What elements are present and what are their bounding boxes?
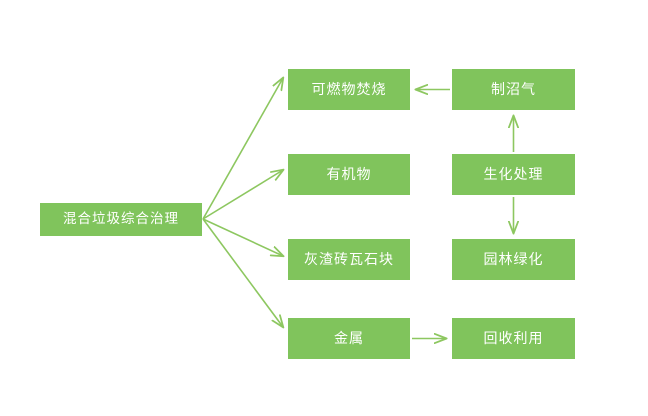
edge-root-to-metal — [203, 219, 283, 327]
node-ash[interactable]: 灰渣砖瓦石块 — [288, 239, 410, 280]
node-biochem[interactable]: 生化处理 — [452, 154, 575, 195]
node-organic-label: 有机物 — [327, 168, 372, 182]
node-recycle-label: 回收利用 — [484, 332, 544, 346]
node-metal-label: 金属 — [334, 332, 364, 346]
edge-root-to-incinerate — [203, 78, 283, 219]
node-organic[interactable]: 有机物 — [288, 154, 410, 195]
edge-root-to-ash — [203, 219, 283, 256]
node-recycle[interactable]: 回收利用 — [452, 318, 575, 359]
node-root[interactable]: 混合垃圾综合治理 — [40, 203, 202, 236]
flowchart-diagram: 混合垃圾综合治理 可燃物焚烧 有机物 灰渣砖瓦石块 金属 制沼气 生化处理 园林… — [0, 0, 648, 416]
node-ash-label: 灰渣砖瓦石块 — [304, 253, 394, 267]
node-incinerate[interactable]: 可燃物焚烧 — [288, 69, 410, 110]
node-biogas-label: 制沼气 — [491, 83, 536, 97]
node-landscape-label: 园林绿化 — [484, 253, 544, 267]
node-landscape[interactable]: 园林绿化 — [452, 239, 575, 280]
node-incinerate-label: 可燃物焚烧 — [312, 83, 387, 97]
node-metal[interactable]: 金属 — [288, 318, 410, 359]
edge-root-to-organic — [203, 170, 283, 219]
node-root-label: 混合垃圾综合治理 — [63, 213, 179, 227]
node-biogas[interactable]: 制沼气 — [452, 69, 575, 110]
node-biochem-label: 生化处理 — [484, 168, 544, 182]
